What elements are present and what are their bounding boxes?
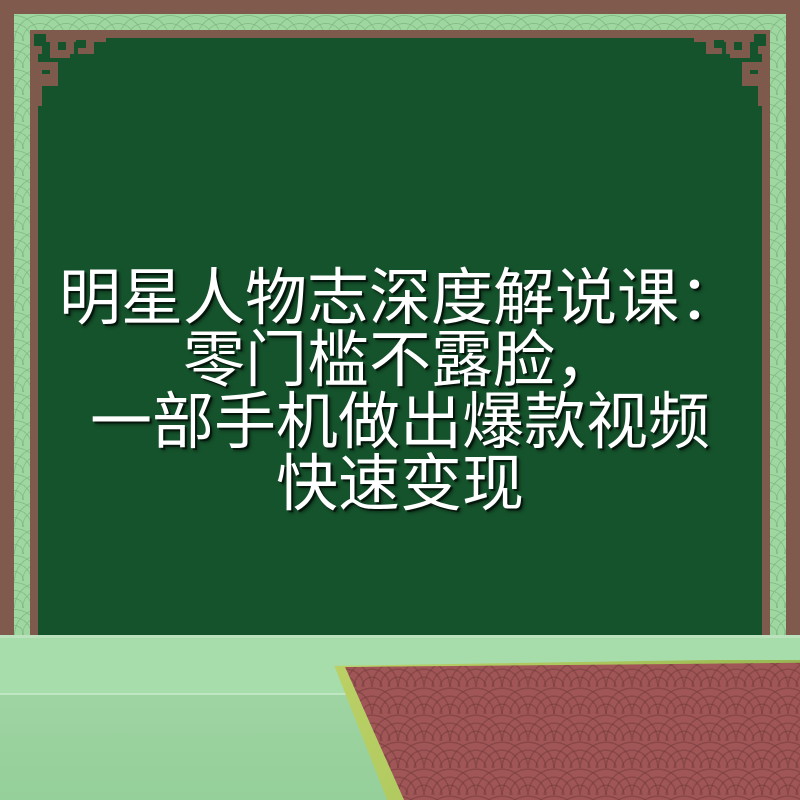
meander-corner-top-right-icon [690,14,786,110]
angled-mat [320,660,800,800]
desk-top-highlight [0,635,800,638]
poster-canvas: 明星人物志深度解说课： 零门槛不露脸， 一部手机做出爆款视频 快速变现 [0,0,800,800]
meander-corner-top-left-icon [14,14,110,110]
